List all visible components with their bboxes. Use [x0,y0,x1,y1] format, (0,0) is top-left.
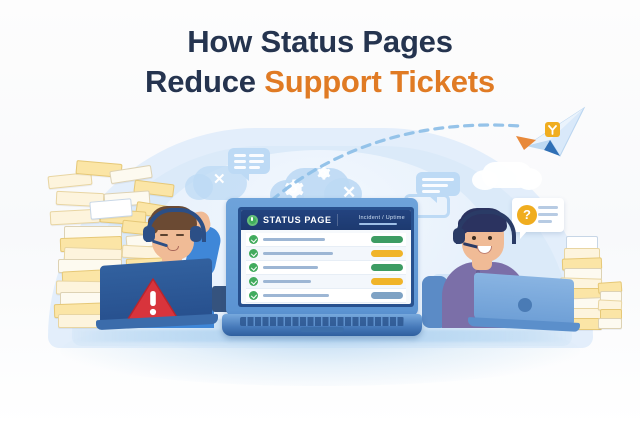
laptop-screen[interactable]: STATUS PAGE Incident / Uptime [241,210,411,304]
check-circle-icon [249,249,258,258]
status-row[interactable] [246,247,406,261]
title-line-2: Reduce Support Tickets [0,62,640,102]
status-row[interactable] [246,233,406,247]
status-row-list [241,230,411,303]
status-pill [371,292,403,299]
check-circle-icon [249,277,258,286]
status-pill [371,278,403,285]
check-circle-icon [249,263,258,272]
warning-triangle-icon [126,276,180,322]
title-line-1: How Status Pages [0,22,640,62]
laptop-base [222,314,422,336]
status-page-title: STATUS PAGE [263,215,332,225]
illustration-canvas: How Status Pages Reduce Support Tickets … [0,0,640,427]
paper-plane-icon [514,106,588,162]
status-page-header: STATUS PAGE Incident / Uptime [241,210,411,230]
title-block: How Status Pages Reduce Support Tickets [0,22,640,102]
status-ok-icon [247,215,258,226]
status-pill [371,250,403,257]
left-laptop [100,262,218,332]
title-line-2-prefix: Reduce [145,64,264,99]
right-agent-headset [456,210,516,244]
right-laptop-logo [518,298,532,312]
status-pill [371,236,403,243]
laptop-lid: STATUS PAGE Incident / Uptime [226,198,418,316]
title-line-2-highlight: Support Tickets [264,64,495,99]
status-row[interactable] [246,261,406,275]
status-page-meta: Incident / Uptime [359,215,405,225]
laptop-keyboard[interactable] [240,317,404,326]
status-row[interactable] [246,275,406,289]
status-page-meta-text: Incident / Uptime [359,215,405,221]
status-pill [371,264,403,271]
check-circle-icon [249,291,258,300]
right-laptop [474,276,580,334]
status-row[interactable] [246,289,406,303]
header-divider [337,214,338,226]
status-page-laptop[interactable]: STATUS PAGE Incident / Uptime [222,198,422,353]
check-circle-icon [249,235,258,244]
laptop-trackpad[interactable] [300,327,344,332]
